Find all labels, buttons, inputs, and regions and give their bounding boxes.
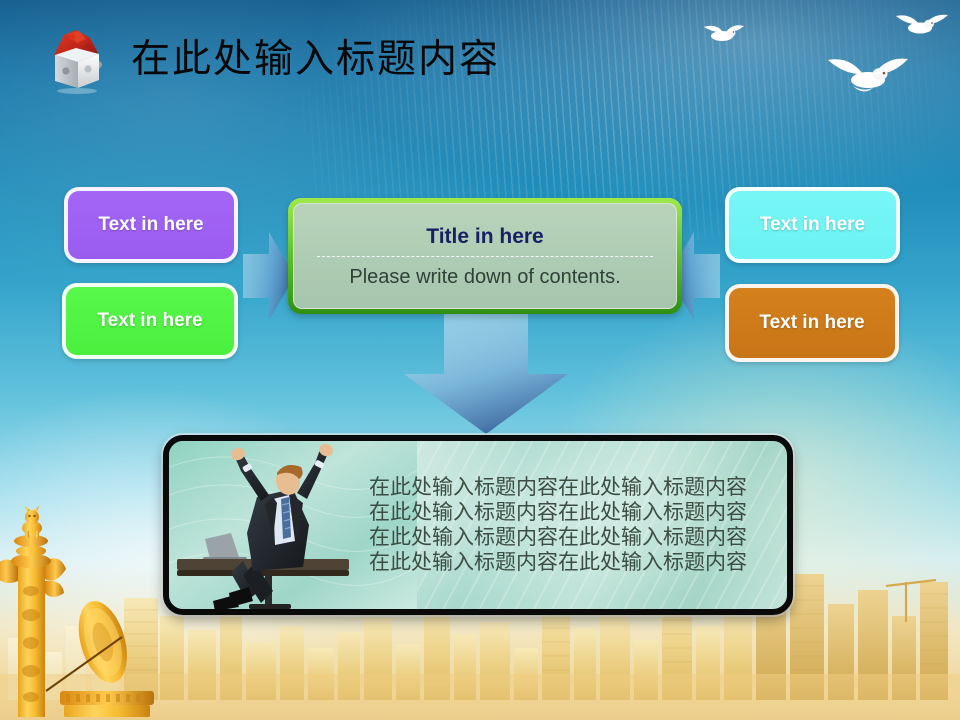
text-box-right-bottom[interactable]: Text in here (725, 284, 899, 362)
center-panel-body: Please write down of contents. (349, 266, 620, 289)
center-panel-divider (317, 256, 654, 257)
content-line: 在此处输入标题内容在此处输入标题内容 (369, 525, 789, 550)
text-box-left-top-label: Text in here (98, 214, 203, 236)
center-panel-title: Title in here (426, 225, 543, 249)
dove-icon (893, 8, 951, 42)
text-box-right-bottom-label: Text in here (759, 312, 864, 334)
bottom-content-panel[interactable]: 在此处输入标题内容在此处输入标题内容 在此处输入标题内容在此处输入标题内容 在此… (163, 435, 793, 615)
huabiao-column-icon (0, 495, 159, 720)
text-box-left-top[interactable]: Text in here (64, 187, 238, 263)
content-line: 在此处输入标题内容在此处输入标题内容 (369, 500, 789, 525)
page-title: 在此处输入标题内容 (131, 34, 500, 86)
content-line: 在此处输入标题内容在此处输入标题内容 (369, 475, 789, 500)
text-box-left-bottom-label: Text in here (97, 310, 202, 332)
text-box-left-bottom[interactable]: Text in here (62, 283, 238, 359)
slide-canvas: 在此处输入标题内容 Text in here Text in here Text… (0, 0, 960, 720)
text-box-right-top-label: Text in here (760, 214, 865, 236)
bottom-panel-text: 在此处输入标题内容在此处输入标题内容 在此处输入标题内容在此处输入标题内容 在此… (369, 475, 789, 575)
dove-icon (825, 48, 911, 100)
puzzle-house-icon (46, 28, 108, 94)
dove-icon (700, 18, 748, 48)
content-line: 在此处输入标题内容在此处输入标题内容 (369, 550, 789, 575)
arrow-down-icon (404, 312, 568, 434)
center-panel-inner: Title in here Please write down of conte… (293, 203, 677, 309)
center-content-panel[interactable]: Title in here Please write down of conte… (288, 198, 682, 314)
text-box-right-top[interactable]: Text in here (725, 187, 900, 263)
